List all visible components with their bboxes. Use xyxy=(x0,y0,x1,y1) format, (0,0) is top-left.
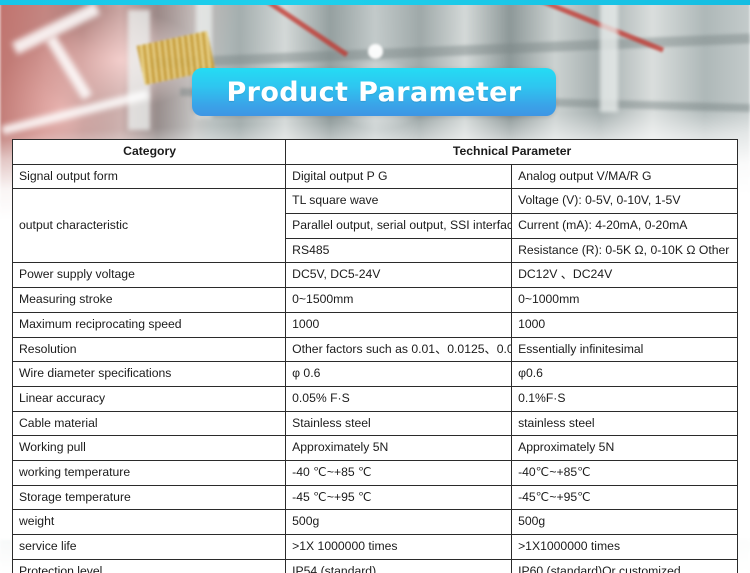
table-row: Signal output formDigital output P GAnal… xyxy=(13,164,738,189)
cell-technical-secondary: 0~1000mm xyxy=(512,288,738,313)
cell-technical-primary: 0.05% F·S xyxy=(286,386,512,411)
table-row: Storage temperature-45 ℃~+95 ℃-45℃~+95℃ xyxy=(13,485,738,510)
page-title-pill: Product Parameter xyxy=(192,68,556,116)
cell-category: service life xyxy=(13,535,286,560)
spec-table-container: Category Technical Parameter Signal outp… xyxy=(12,139,738,573)
cell-category: Working pull xyxy=(13,436,286,461)
cell-technical-primary: 500g xyxy=(286,510,512,535)
cell-technical-primary: TL square wave xyxy=(286,189,512,214)
table-row: Linear accuracy0.05% F·S0.1%F·S xyxy=(13,386,738,411)
cell-technical-secondary: DC12V 、DC24V xyxy=(512,263,738,288)
top-accent-strip xyxy=(0,0,750,5)
cell-technical-secondary: stainless steel xyxy=(512,411,738,436)
spec-table-body: Category Technical Parameter Signal outp… xyxy=(13,140,738,573)
table-row: Maximum reciprocating speed10001000 xyxy=(13,312,738,337)
table-row: working temperature-40 ℃~+85 ℃-40℃~+85℃ xyxy=(13,460,738,485)
cell-technical-primary: Digital output P G xyxy=(286,164,512,189)
cell-technical-secondary: 0.1%F·S xyxy=(512,386,738,411)
cell-technical-secondary: Essentially infinitesimal xyxy=(512,337,738,362)
cell-technical-primary: 1000 xyxy=(286,312,512,337)
cell-category: weight xyxy=(13,510,286,535)
table-row: Working pullApproximately 5NApproximatel… xyxy=(13,436,738,461)
cell-technical-secondary: Current (mA): 4-20mA, 0-20mA xyxy=(512,214,738,239)
cell-technical-primary: Other factors such as 0.01、0.0125、0.025,… xyxy=(286,337,512,362)
header-category: Category xyxy=(13,140,286,165)
cell-technical-primary: Approximately 5N xyxy=(286,436,512,461)
product-parameter-table: Category Technical Parameter Signal outp… xyxy=(12,139,738,573)
cell-technical-secondary: 500g xyxy=(512,510,738,535)
cell-technical-secondary: Resistance (R): 0-5K Ω, 0-10K Ω Other xyxy=(512,238,738,263)
table-row: Wire diameter specificationsφ 0.6φ0.6 xyxy=(13,362,738,387)
cell-technical-primary: DC5V, DC5-24V xyxy=(286,263,512,288)
cell-technical-primary: -45 ℃~+95 ℃ xyxy=(286,485,512,510)
cell-category: Maximum reciprocating speed xyxy=(13,312,286,337)
cell-technical-secondary: -40℃~+85℃ xyxy=(512,460,738,485)
table-row: Cable materialStainless steelstainless s… xyxy=(13,411,738,436)
table-row: service life>1X 1000000 times>1X1000000 … xyxy=(13,535,738,560)
page-title: Product Parameter xyxy=(226,77,521,108)
cell-technical-secondary: Voltage (V): 0-5V, 0-10V, 1-5V xyxy=(512,189,738,214)
cell-technical-primary: Stainless steel xyxy=(286,411,512,436)
table-row: Power supply voltageDC5V, DC5-24VDC12V 、… xyxy=(13,263,738,288)
cell-technical-primary: RS485 xyxy=(286,238,512,263)
cell-category: Resolution xyxy=(13,337,286,362)
cell-category: Cable material xyxy=(13,411,286,436)
cell-technical-secondary: Analog output V/MA/R G xyxy=(512,164,738,189)
table-row: output characteristicTL square waveVolta… xyxy=(13,189,738,214)
table-row: Measuring stroke0~1500mm0~1000mm xyxy=(13,288,738,313)
photo-pillar xyxy=(600,0,618,112)
cell-category: Measuring stroke xyxy=(13,288,286,313)
cell-category: working temperature xyxy=(13,460,286,485)
cell-technical-primary: -40 ℃~+85 ℃ xyxy=(286,460,512,485)
photo-light-dot xyxy=(368,44,383,59)
cell-category: Wire diameter specifications xyxy=(13,362,286,387)
cell-technical-secondary: Approximately 5N xyxy=(512,436,738,461)
cell-technical-primary: φ 0.6 xyxy=(286,362,512,387)
cell-category: Linear accuracy xyxy=(13,386,286,411)
table-header-row: Category Technical Parameter xyxy=(13,140,738,165)
cell-technical-secondary: IP60 (standard)Or customized xyxy=(512,559,738,573)
cell-technical-secondary: 1000 xyxy=(512,312,738,337)
cell-technical-secondary: >1X1000000 times xyxy=(512,535,738,560)
header-technical-parameter: Technical Parameter xyxy=(286,140,738,165)
cell-technical-primary: IP54 (standard) xyxy=(286,559,512,573)
table-row: Protection levelIP54 (standard)IP60 (sta… xyxy=(13,559,738,573)
cell-category: output characteristic xyxy=(13,189,286,263)
product-parameter-page: Product Parameter Category Technical Par… xyxy=(0,0,750,573)
cell-category: Storage temperature xyxy=(13,485,286,510)
cell-technical-primary: Parallel output, serial output, SSI inte… xyxy=(286,214,512,239)
cell-technical-primary: >1X 1000000 times xyxy=(286,535,512,560)
cell-technical-secondary: -45℃~+95℃ xyxy=(512,485,738,510)
table-row: ResolutionOther factors such as 0.01、0.0… xyxy=(13,337,738,362)
cell-category: Power supply voltage xyxy=(13,263,286,288)
cell-technical-primary: 0~1500mm xyxy=(286,288,512,313)
cell-technical-secondary: φ0.6 xyxy=(512,362,738,387)
cell-category: Signal output form xyxy=(13,164,286,189)
cell-category: Protection level xyxy=(13,559,286,573)
table-row: weight500g500g xyxy=(13,510,738,535)
